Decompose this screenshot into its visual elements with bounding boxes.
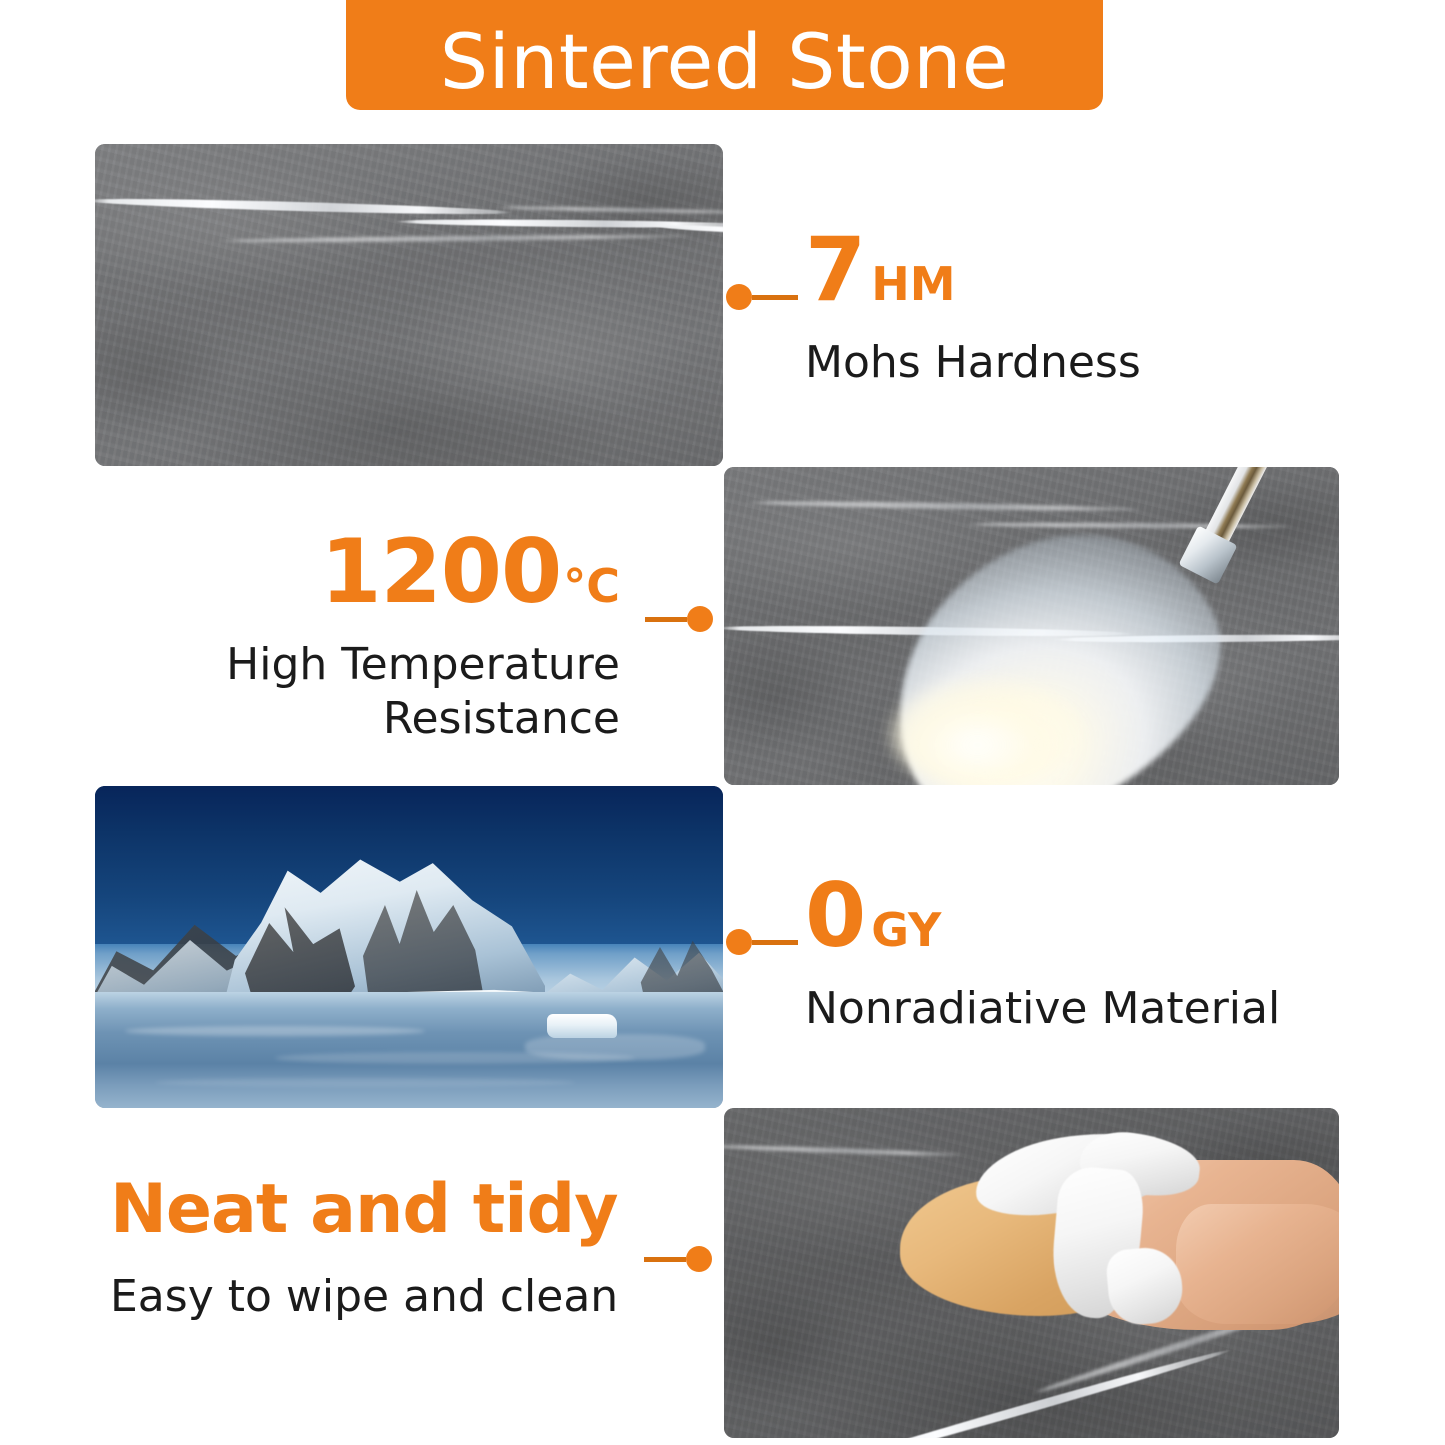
stat-description: Nonradiative Material xyxy=(805,982,1405,1036)
stat-value-row: 1200°C xyxy=(150,528,620,616)
glacier-scene xyxy=(95,786,723,1108)
feature-image-mohs-hardness xyxy=(95,144,723,466)
connector-dot-icon xyxy=(687,606,713,632)
connector-line-icon xyxy=(645,617,687,622)
stat-number: 0 xyxy=(805,864,865,967)
feature-text-nonradiative-material: 0GY Nonradiative Material xyxy=(805,872,1405,1036)
stat-unit: °C xyxy=(563,559,620,613)
feature-text-neat-and-tidy: Neat and tidy Easy to wipe and clean xyxy=(110,1176,630,1324)
connector-high-temperature-resistance xyxy=(645,606,713,632)
stat-unit: GY xyxy=(871,903,941,957)
stat-description: High Temperature Resistance xyxy=(150,638,620,745)
feature-text-mohs-hardness: 7HM Mohs Hardness xyxy=(805,226,1365,390)
iceberg-reflection xyxy=(525,1034,705,1060)
connector-dot-icon xyxy=(686,1246,712,1272)
stat-unit: HM xyxy=(871,257,955,311)
stat-description: Mohs Hardness xyxy=(805,336,1365,390)
stone-texture xyxy=(95,144,723,466)
connector-line-icon xyxy=(752,940,798,945)
feature-image-nonradiative-material xyxy=(95,786,723,1108)
connector-line-icon xyxy=(644,1257,686,1262)
infographic-page: Sintered Stone 7HM Mohs Hardness 1200°C … xyxy=(0,0,1445,1445)
iceberg xyxy=(547,1014,617,1038)
stat-number: Neat and tidy xyxy=(110,1170,618,1249)
feature-text-high-temperature-resistance: 1200°C High Temperature Resistance xyxy=(150,528,620,745)
stat-value-row: 0GY xyxy=(805,872,1405,960)
stat-value-row: Neat and tidy xyxy=(110,1176,630,1244)
connector-dot-icon xyxy=(726,284,752,310)
stat-number: 1200 xyxy=(320,520,561,623)
hand-back xyxy=(1176,1204,1339,1324)
feature-image-high-temperature-resistance xyxy=(724,467,1339,785)
connector-dot-icon xyxy=(726,929,752,955)
stat-description: Easy to wipe and clean xyxy=(110,1270,630,1324)
water-reflection xyxy=(125,1026,425,1036)
stat-value-row: 7HM xyxy=(805,226,1365,314)
connector-nonradiative-material xyxy=(726,929,798,955)
connector-neat-and-tidy xyxy=(644,1246,712,1272)
water-reflection xyxy=(155,1078,575,1087)
connector-line-icon xyxy=(752,295,798,300)
stat-number: 7 xyxy=(805,218,865,321)
feature-image-neat-and-tidy xyxy=(724,1108,1339,1438)
connector-mohs-hardness xyxy=(726,284,798,310)
page-title-banner: Sintered Stone xyxy=(346,0,1103,110)
page-title: Sintered Stone xyxy=(440,24,1009,100)
flame-core xyxy=(892,679,1082,785)
